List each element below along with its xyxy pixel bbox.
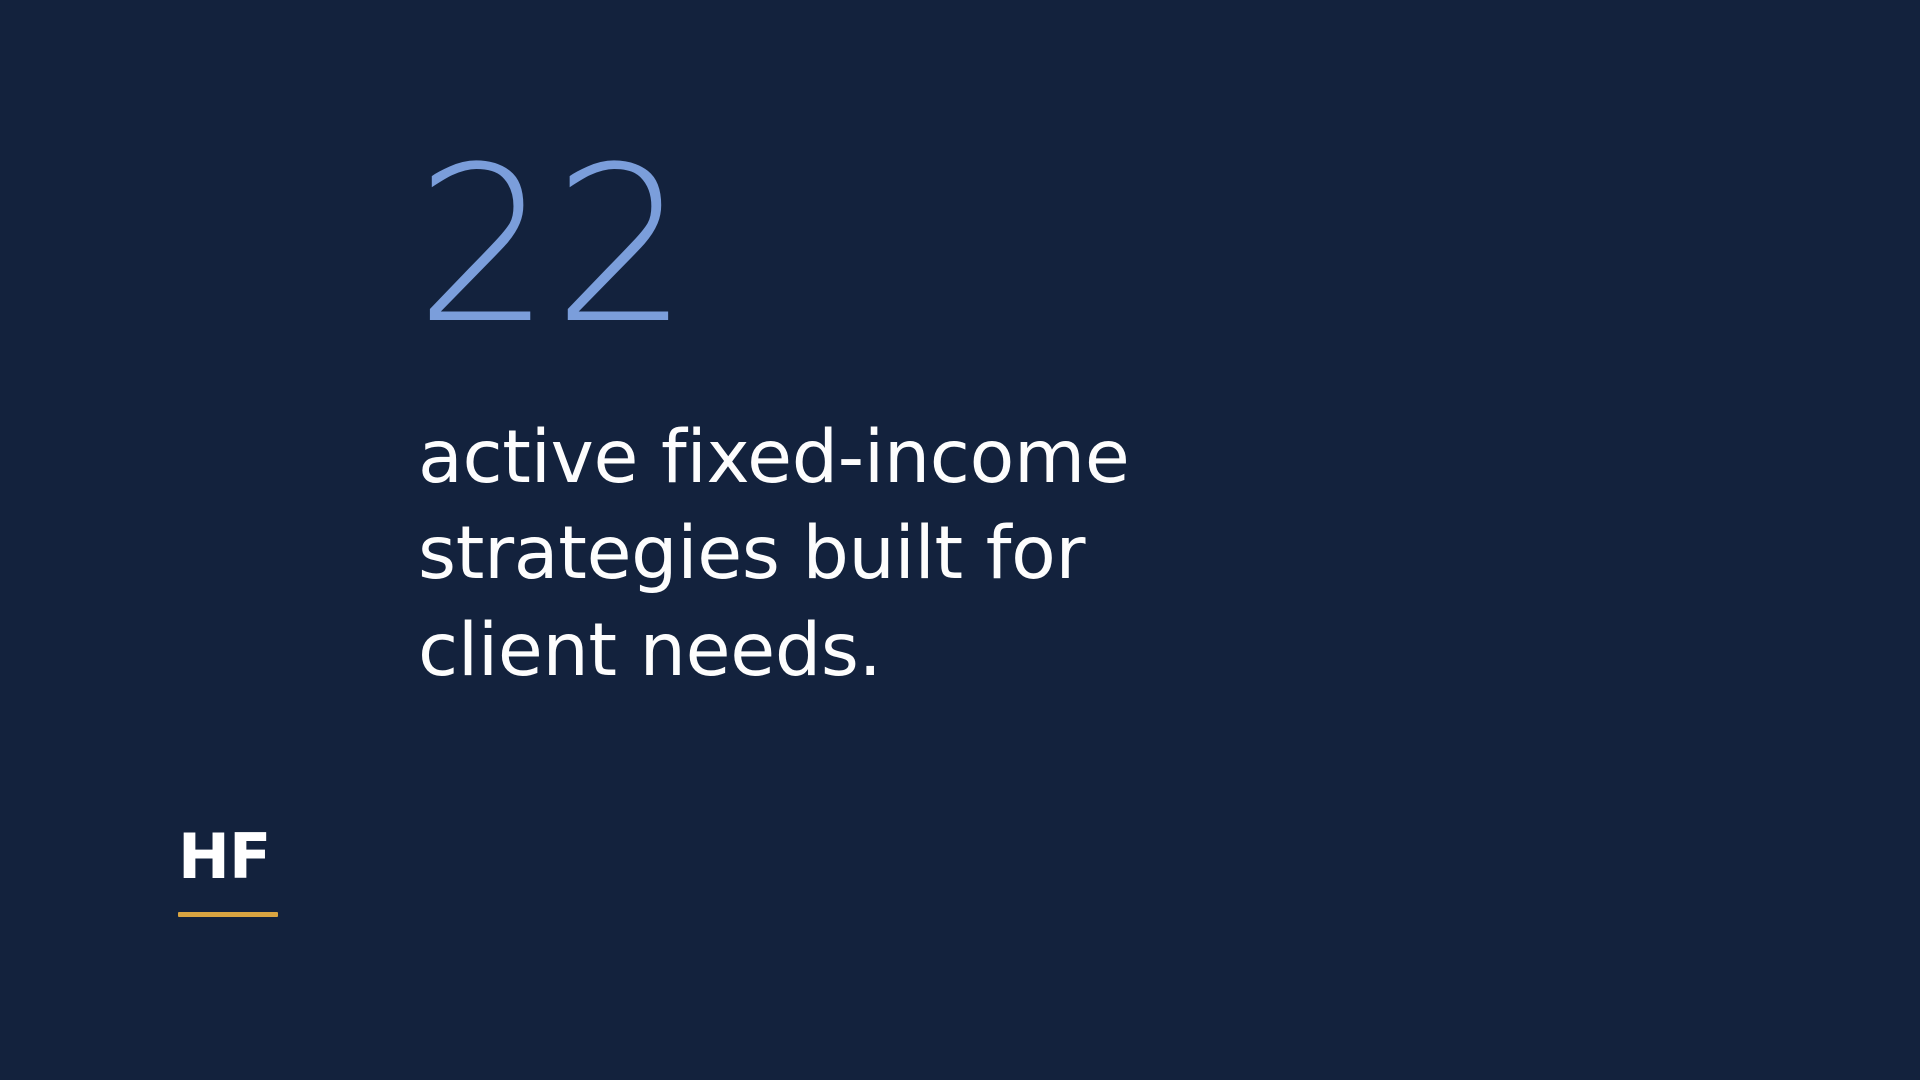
- statement-text: active fixed-income strategies built for…: [418, 410, 1338, 699]
- statement-line-1: active fixed-income: [418, 410, 1338, 506]
- brand-lockup: HF: [178, 826, 278, 917]
- brand-monogram: HF: [178, 826, 270, 888]
- brand-accent-rule: [178, 912, 278, 917]
- statement-line-3: client needs.: [418, 603, 1338, 699]
- statement-line-2: strategies built for: [418, 506, 1338, 602]
- slide-canvas: 22 active fixed-income strategies built …: [0, 0, 1920, 1080]
- stat-number: 22: [415, 138, 691, 353]
